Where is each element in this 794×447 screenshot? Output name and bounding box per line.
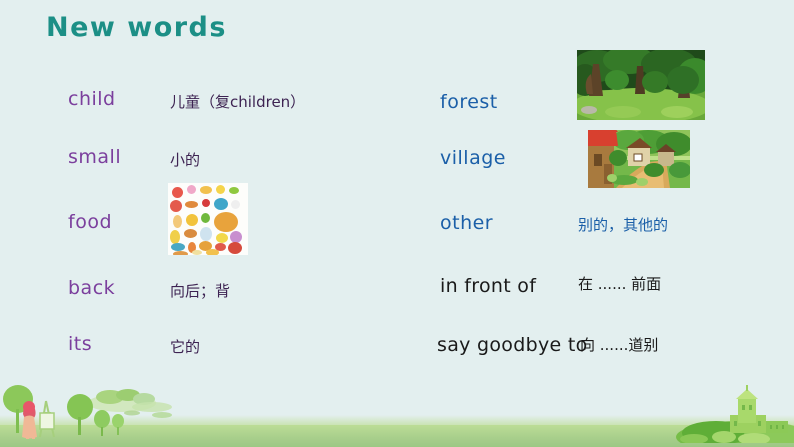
slide-canvas: New words child 儿童（复children） small 小的 f…	[0, 0, 794, 447]
word-english-back: back	[68, 277, 115, 299]
word-english-small: small	[68, 146, 121, 168]
phrase-chinese-in-front-of: 在 ...... 前面	[578, 273, 661, 294]
village-illustration	[588, 130, 690, 188]
phrase-english-say-goodbye-to: say goodbye to	[437, 334, 588, 356]
forest-illustration	[577, 50, 705, 120]
word-english-child: child	[68, 88, 116, 110]
word-chinese-its: 它的	[170, 336, 200, 357]
word-chinese-other: 别的，其他的	[578, 214, 668, 235]
green-hill-castle-illustration	[624, 385, 794, 443]
word-chinese-small: 小的	[170, 149, 200, 170]
word-english-its: its	[68, 333, 92, 355]
park-scene-illustration	[2, 383, 192, 443]
word-english-forest: forest	[440, 91, 498, 113]
bottom-right-decoration	[624, 385, 794, 447]
food-collage-image	[168, 183, 248, 255]
word-chinese-back: 向后；背	[170, 280, 230, 301]
phrase-chinese-say-goodbye-to: 向 ......道别	[580, 334, 658, 355]
village-image	[588, 130, 690, 188]
page-title: New words	[46, 12, 227, 43]
phrase-english-in-front-of: in front of	[440, 275, 536, 297]
word-english-other: other	[440, 212, 493, 234]
word-english-village: village	[440, 147, 506, 169]
word-english-food: food	[68, 211, 112, 233]
bottom-left-decoration	[2, 383, 192, 447]
forest-image	[577, 50, 705, 120]
word-chinese-child: 儿童（复children）	[170, 91, 305, 112]
